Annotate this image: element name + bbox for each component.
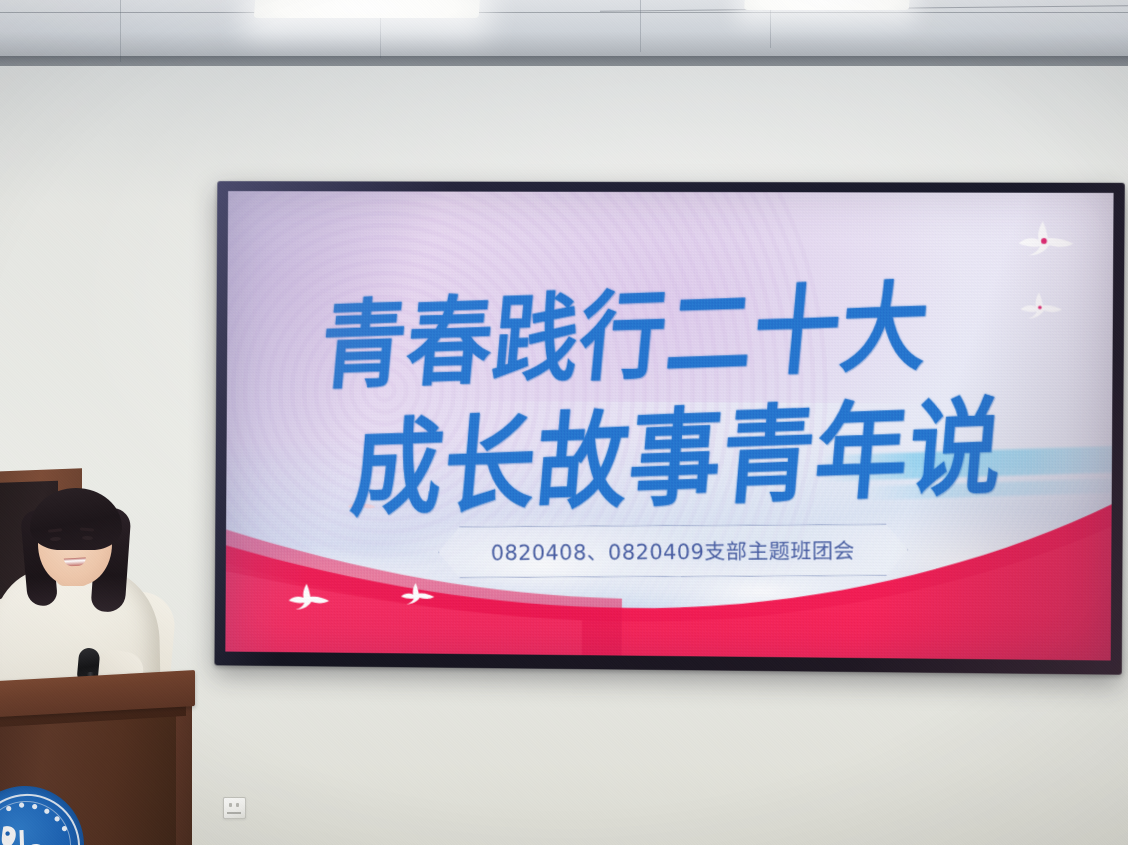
ceiling-light-fixture (254, 0, 482, 18)
ceiling-grid-line (120, 0, 121, 62)
light-switch-plate[interactable] (223, 797, 246, 819)
led-screen-surface: 青春践行二十大 成长故事青年说 0820408、0820409支部主题班团会 (225, 191, 1113, 660)
ceiling-light-fixture (744, 0, 911, 10)
switch-slot (227, 812, 241, 814)
switch-rocker (236, 803, 239, 807)
university-seal (0, 784, 86, 845)
led-display-panel[interactable]: 青春践行二十大 成长故事青年说 0820408、0820409支部主题班团会 (214, 181, 1124, 675)
ceiling-grid-line (640, 0, 641, 52)
slide-subtitle-banner: 0820408、0820409支部主题班团会 (438, 524, 908, 579)
switch-rocker (229, 803, 232, 807)
slide-title-line-2: 成长故事青年说 (346, 362, 1010, 537)
seal-ring-text (0, 784, 86, 845)
slide-title-block: 青春践行二十大 成长故事青年说 (225, 191, 1113, 660)
ceiling-seam (0, 12, 1128, 13)
slide-subtitle-text: 0820408、0820409支部主题班团会 (438, 524, 908, 579)
photo-scene: 青春践行二十大 成长故事青年说 0820408、0820409支部主题班团会 (0, 0, 1128, 845)
